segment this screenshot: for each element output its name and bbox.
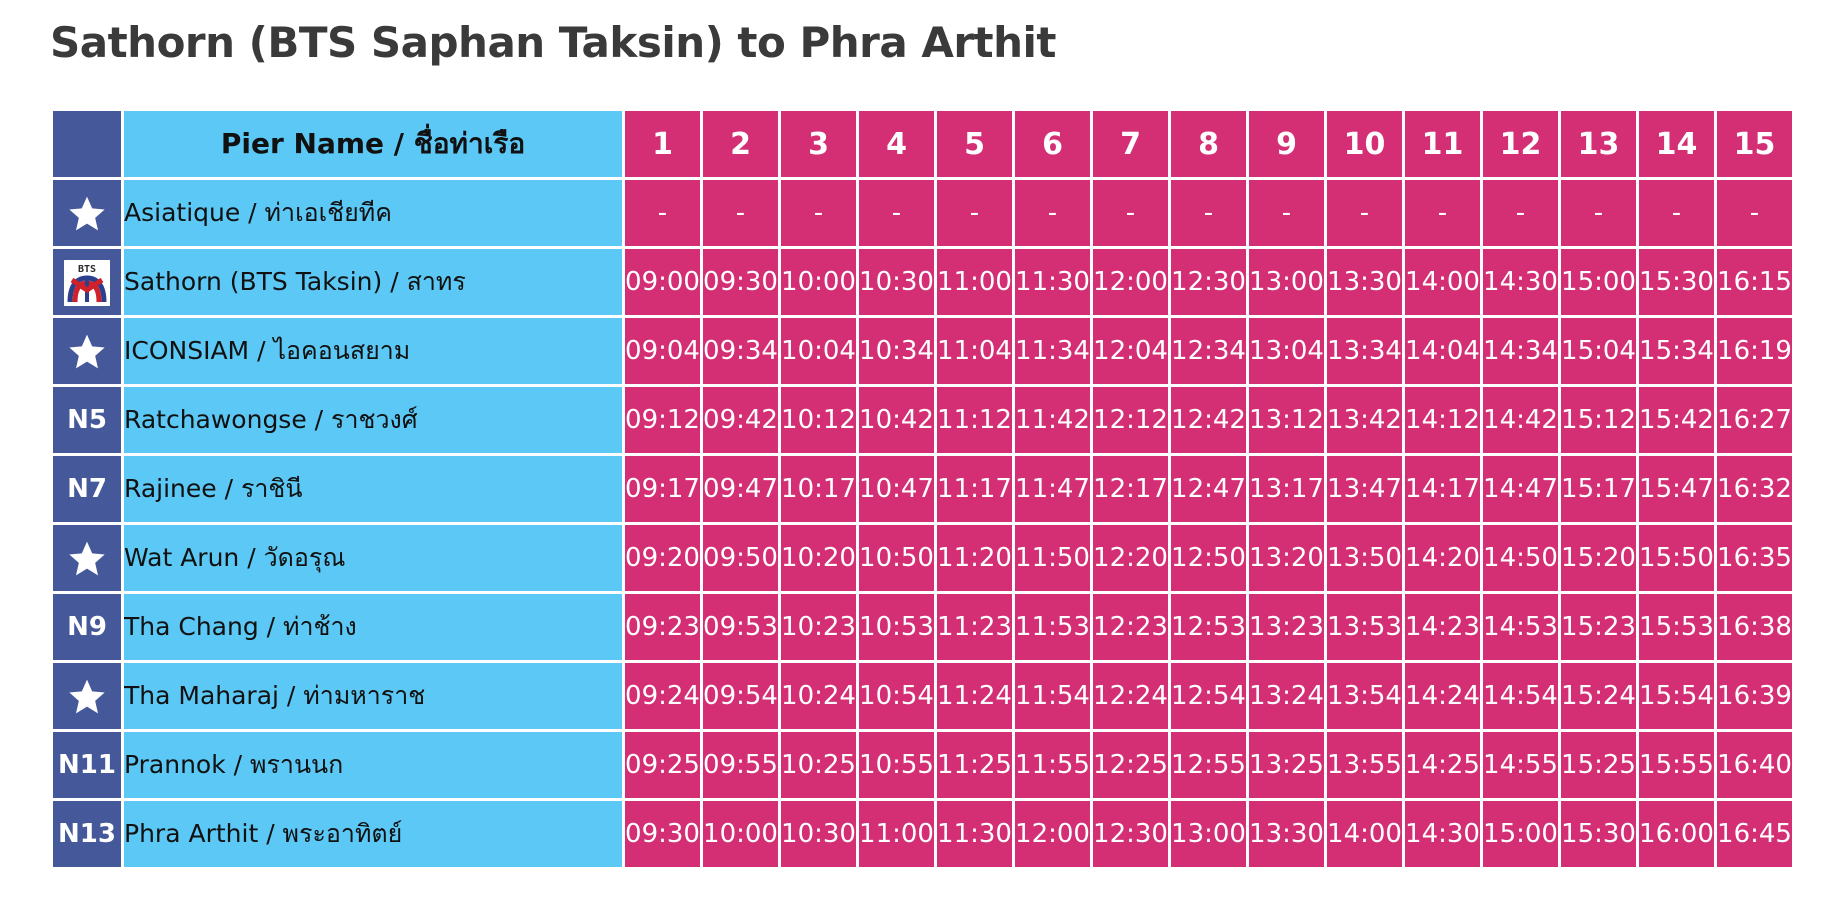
time-cell: 11:12: [937, 387, 1012, 453]
time-cell: 14:12: [1405, 387, 1480, 453]
time-cell: 10:17: [781, 456, 856, 522]
header-trip-4[interactable]: 4: [859, 111, 934, 177]
time-cell: 11:55: [1015, 732, 1090, 798]
time-cell: 14:23: [1405, 594, 1480, 660]
table-row: N13Phra Arthit / พระอาทิตย์09:3010:0010:…: [53, 801, 1792, 867]
table-row: N7Rajinee / ราชินี09:1709:4710:1710:4711…: [53, 456, 1792, 522]
time-cell: -: [625, 180, 700, 246]
time-cell: 09:50: [703, 525, 778, 591]
pier-name-cell: Ratchawongse / ราชวงศ์: [124, 387, 622, 453]
time-cell: 13:00: [1249, 249, 1324, 315]
header-trip-7[interactable]: 7: [1093, 111, 1168, 177]
time-cell: 16:32: [1717, 456, 1792, 522]
time-cell: 10:23: [781, 594, 856, 660]
time-cell: 13:34: [1327, 318, 1402, 384]
time-cell: -: [1015, 180, 1090, 246]
time-cell: 14:17: [1405, 456, 1480, 522]
time-cell: 12:47: [1171, 456, 1246, 522]
time-cell: 11:53: [1015, 594, 1090, 660]
time-cell: 13:53: [1327, 594, 1402, 660]
row-badge-N11: N11: [53, 732, 121, 798]
time-cell: 12:20: [1093, 525, 1168, 591]
time-cell: 09:30: [703, 249, 778, 315]
time-cell: 15:20: [1561, 525, 1636, 591]
time-cell: 10:47: [859, 456, 934, 522]
time-cell: 13:54: [1327, 663, 1402, 729]
time-cell: 15:30: [1561, 801, 1636, 867]
time-cell: 09:17: [625, 456, 700, 522]
time-cell: 16:38: [1717, 594, 1792, 660]
time-cell: 09:55: [703, 732, 778, 798]
time-cell: 15:50: [1639, 525, 1714, 591]
time-cell: 12:30: [1093, 801, 1168, 867]
time-cell: 15:42: [1639, 387, 1714, 453]
time-cell: 13:24: [1249, 663, 1324, 729]
time-cell: 13:47: [1327, 456, 1402, 522]
pier-name-cell: Rajinee / ราชินี: [124, 456, 622, 522]
time-cell: 14:20: [1405, 525, 1480, 591]
time-cell: -: [1561, 180, 1636, 246]
time-cell: 09:47: [703, 456, 778, 522]
header-row: Pier Name / ชื่อท่าเรือ 1234567891011121…: [53, 111, 1792, 177]
time-cell: 15:17: [1561, 456, 1636, 522]
time-cell: 16:27: [1717, 387, 1792, 453]
time-cell: -: [937, 180, 1012, 246]
time-cell: 10:55: [859, 732, 934, 798]
header-trip-6[interactable]: 6: [1015, 111, 1090, 177]
row-badge-N5: N5: [53, 387, 121, 453]
star-icon: [67, 677, 107, 717]
table-row: N5Ratchawongse / ราชวงศ์09:1209:4210:121…: [53, 387, 1792, 453]
pier-name-cell: Tha Maharaj / ท่ามหาราช: [124, 663, 622, 729]
time-cell: 10:00: [781, 249, 856, 315]
time-cell: 09:04: [625, 318, 700, 384]
time-cell: 16:45: [1717, 801, 1792, 867]
time-cell: 10:54: [859, 663, 934, 729]
time-cell: 11:30: [1015, 249, 1090, 315]
time-cell: 10:53: [859, 594, 934, 660]
row-badge-star: [53, 525, 121, 591]
header-badge-cell: [53, 111, 121, 177]
time-cell: 13:25: [1249, 732, 1324, 798]
table-row: N11Prannok / พรานนก09:2509:5510:2510:551…: [53, 732, 1792, 798]
header-trip-13[interactable]: 13: [1561, 111, 1636, 177]
table-row: Tha Maharaj / ท่ามหาราช09:2409:5410:2410…: [53, 663, 1792, 729]
time-cell: 16:00: [1639, 801, 1714, 867]
time-cell: 13:12: [1249, 387, 1324, 453]
time-cell: 14:25: [1405, 732, 1480, 798]
time-cell: -: [703, 180, 778, 246]
time-cell: 15:55: [1639, 732, 1714, 798]
time-cell: 14:50: [1483, 525, 1558, 591]
pier-name-cell: Asiatique / ท่าเอเชียทีค: [124, 180, 622, 246]
time-cell: 12:00: [1015, 801, 1090, 867]
header-trip-8[interactable]: 8: [1171, 111, 1246, 177]
time-cell: 15:24: [1561, 663, 1636, 729]
time-cell: 12:34: [1171, 318, 1246, 384]
time-cell: 10:12: [781, 387, 856, 453]
time-cell: 09:23: [625, 594, 700, 660]
time-cell: 13:42: [1327, 387, 1402, 453]
header-trip-10[interactable]: 10: [1327, 111, 1402, 177]
time-cell: 11:25: [937, 732, 1012, 798]
time-cell: 09:12: [625, 387, 700, 453]
time-cell: 10:42: [859, 387, 934, 453]
pier-name-cell: Tha Chang / ท่าช้าง: [124, 594, 622, 660]
time-cell: 16:40: [1717, 732, 1792, 798]
time-cell: 11:30: [937, 801, 1012, 867]
time-cell: 16:19: [1717, 318, 1792, 384]
pier-name-cell: ICONSIAM / ไอคอนสยาม: [124, 318, 622, 384]
time-cell: 13:00: [1171, 801, 1246, 867]
table-row: BTSSathorn (BTS Taksin) / สาทร09:0009:30…: [53, 249, 1792, 315]
table-row: ICONSIAM / ไอคอนสยาม09:0409:3410:0410:34…: [53, 318, 1792, 384]
time-cell: 14:54: [1483, 663, 1558, 729]
header-trip-1[interactable]: 1: [625, 111, 700, 177]
header-trip-14[interactable]: 14: [1639, 111, 1714, 177]
time-cell: 14:30: [1405, 801, 1480, 867]
row-badge-bts: BTS: [53, 249, 121, 315]
time-cell: 13:23: [1249, 594, 1324, 660]
time-cell: 15:00: [1483, 801, 1558, 867]
time-cell: 09:30: [625, 801, 700, 867]
time-cell: 15:47: [1639, 456, 1714, 522]
time-cell: 09:24: [625, 663, 700, 729]
header-pier-name: Pier Name / ชื่อท่าเรือ: [124, 111, 622, 177]
time-cell: 14:55: [1483, 732, 1558, 798]
time-cell: 11:50: [1015, 525, 1090, 591]
time-cell: -: [1405, 180, 1480, 246]
time-cell: 10:30: [859, 249, 934, 315]
timetable: Pier Name / ชื่อท่าเรือ 1234567891011121…: [50, 108, 1795, 870]
header-trip-2[interactable]: 2: [703, 111, 778, 177]
row-badge-N7: N7: [53, 456, 121, 522]
time-cell: 11:54: [1015, 663, 1090, 729]
bts-logo-icon: BTS: [64, 260, 110, 306]
time-cell: -: [1249, 180, 1324, 246]
star-icon: [67, 539, 107, 579]
time-cell: 13:30: [1249, 801, 1324, 867]
header-trip-15[interactable]: 15: [1717, 111, 1792, 177]
time-cell: 15:04: [1561, 318, 1636, 384]
time-cell: -: [1639, 180, 1714, 246]
header-trip-9[interactable]: 9: [1249, 111, 1324, 177]
time-cell: 16:39: [1717, 663, 1792, 729]
timetable-container: Pier Name / ชื่อท่าเรือ 1234567891011121…: [50, 108, 1795, 870]
timetable-body: Asiatique / ท่าเอเชียทีค---------------B…: [53, 180, 1792, 867]
time-cell: 12:53: [1171, 594, 1246, 660]
time-cell: 14:04: [1405, 318, 1480, 384]
time-cell: 14:00: [1405, 249, 1480, 315]
svg-text:BTS: BTS: [78, 264, 96, 275]
time-cell: 15:23: [1561, 594, 1636, 660]
time-cell: 09:53: [703, 594, 778, 660]
row-badge-N9: N9: [53, 594, 121, 660]
time-cell: 12:30: [1171, 249, 1246, 315]
time-cell: 11:47: [1015, 456, 1090, 522]
row-badge-star: [53, 663, 121, 729]
time-cell: 12:23: [1093, 594, 1168, 660]
star-icon: [67, 332, 107, 372]
time-cell: 12:54: [1171, 663, 1246, 729]
page-title: Sathorn (BTS Saphan Taksin) to Phra Arth…: [50, 18, 1056, 67]
star-icon: [67, 194, 107, 234]
time-cell: -: [1327, 180, 1402, 246]
time-cell: 12:04: [1093, 318, 1168, 384]
time-cell: 12:55: [1171, 732, 1246, 798]
time-cell: -: [1483, 180, 1558, 246]
time-cell: 15:53: [1639, 594, 1714, 660]
time-cell: 12:24: [1093, 663, 1168, 729]
time-cell: 10:30: [781, 801, 856, 867]
time-cell: 16:35: [1717, 525, 1792, 591]
header-trip-3[interactable]: 3: [781, 111, 856, 177]
time-cell: 09:25: [625, 732, 700, 798]
time-cell: 13:55: [1327, 732, 1402, 798]
time-cell: 09:34: [703, 318, 778, 384]
time-cell: 12:25: [1093, 732, 1168, 798]
row-badge-star: [53, 318, 121, 384]
pier-name-cell: Phra Arthit / พระอาทิตย์: [124, 801, 622, 867]
time-cell: 14:30: [1483, 249, 1558, 315]
time-cell: 10:00: [703, 801, 778, 867]
time-cell: 11:24: [937, 663, 1012, 729]
header-trip-12[interactable]: 12: [1483, 111, 1558, 177]
time-cell: 14:42: [1483, 387, 1558, 453]
time-cell: -: [1093, 180, 1168, 246]
row-badge-N13: N13: [53, 801, 121, 867]
time-cell: 12:50: [1171, 525, 1246, 591]
time-cell: 11:20: [937, 525, 1012, 591]
time-cell: 12:00: [1093, 249, 1168, 315]
time-cell: -: [1717, 180, 1792, 246]
time-cell: 11:34: [1015, 318, 1090, 384]
time-cell: 13:04: [1249, 318, 1324, 384]
time-cell: 11:23: [937, 594, 1012, 660]
time-cell: -: [1171, 180, 1246, 246]
time-cell: 14:53: [1483, 594, 1558, 660]
time-cell: 13:30: [1327, 249, 1402, 315]
header-trip-5[interactable]: 5: [937, 111, 1012, 177]
time-cell: 14:47: [1483, 456, 1558, 522]
table-row: Asiatique / ท่าเอเชียทีค---------------: [53, 180, 1792, 246]
row-badge-star: [53, 180, 121, 246]
time-cell: -: [781, 180, 856, 246]
time-cell: 15:25: [1561, 732, 1636, 798]
time-cell: 15:30: [1639, 249, 1714, 315]
time-cell: 13:17: [1249, 456, 1324, 522]
timetable-header: Pier Name / ชื่อท่าเรือ 1234567891011121…: [53, 111, 1792, 177]
time-cell: 11:04: [937, 318, 1012, 384]
time-cell: 10:04: [781, 318, 856, 384]
time-cell: 15:12: [1561, 387, 1636, 453]
time-cell: 11:17: [937, 456, 1012, 522]
time-cell: 09:20: [625, 525, 700, 591]
time-cell: 12:17: [1093, 456, 1168, 522]
time-cell: 10:24: [781, 663, 856, 729]
time-cell: 14:34: [1483, 318, 1558, 384]
time-cell: 10:50: [859, 525, 934, 591]
time-cell: 15:54: [1639, 663, 1714, 729]
time-cell: 11:00: [859, 801, 934, 867]
time-cell: 15:34: [1639, 318, 1714, 384]
time-cell: 12:12: [1093, 387, 1168, 453]
time-cell: 12:42: [1171, 387, 1246, 453]
time-cell: 13:50: [1327, 525, 1402, 591]
time-cell: 11:42: [1015, 387, 1090, 453]
table-row: Wat Arun / วัดอรุณ09:2009:5010:2010:5011…: [53, 525, 1792, 591]
header-trip-11[interactable]: 11: [1405, 111, 1480, 177]
time-cell: 11:00: [937, 249, 1012, 315]
time-cell: 14:24: [1405, 663, 1480, 729]
time-cell: 10:34: [859, 318, 934, 384]
time-cell: 16:15: [1717, 249, 1792, 315]
time-cell: -: [859, 180, 934, 246]
time-cell: 15:00: [1561, 249, 1636, 315]
pier-name-cell: Wat Arun / วัดอรุณ: [124, 525, 622, 591]
time-cell: 10:20: [781, 525, 856, 591]
pier-name-cell: Prannok / พรานนก: [124, 732, 622, 798]
table-row: N9Tha Chang / ท่าช้าง09:2309:5310:2310:5…: [53, 594, 1792, 660]
time-cell: 13:20: [1249, 525, 1324, 591]
time-cell: 10:25: [781, 732, 856, 798]
time-cell: 09:00: [625, 249, 700, 315]
time-cell: 09:42: [703, 387, 778, 453]
time-cell: 09:54: [703, 663, 778, 729]
time-cell: 14:00: [1327, 801, 1402, 867]
pier-name-cell: Sathorn (BTS Taksin) / สาทร: [124, 249, 622, 315]
schedule-page: Sathorn (BTS Saphan Taksin) to Phra Arth…: [0, 0, 1828, 910]
